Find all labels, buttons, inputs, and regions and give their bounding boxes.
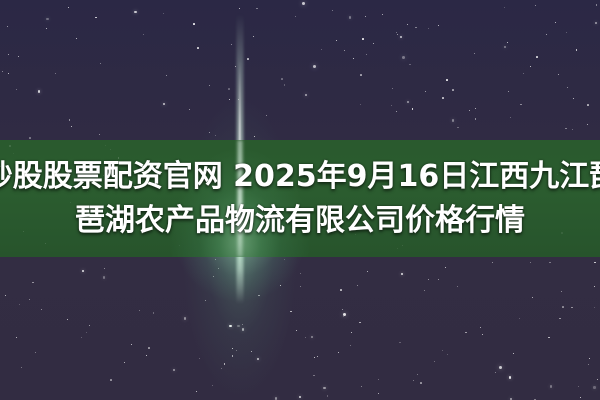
headline-line-1: 炒股股票配资官网 2025年9月16日江西九江琵 [0, 155, 600, 199]
banner-image: 炒股股票配资官网 2025年9月16日江西九江琵 琶湖农产品物流有限公司价格行情 [0, 0, 600, 400]
headline-line-2: 琶湖农产品物流有限公司价格行情 [75, 199, 525, 243]
headline-block: 炒股股票配资官网 2025年9月16日江西九江琵 琶湖农产品物流有限公司价格行情 [0, 140, 600, 257]
